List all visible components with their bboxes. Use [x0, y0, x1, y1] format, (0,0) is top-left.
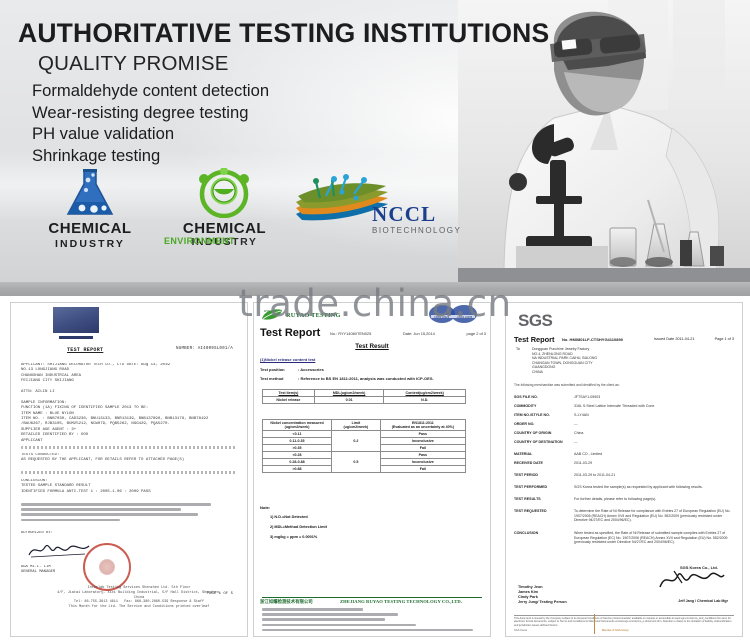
doc3-footer-divider	[594, 614, 595, 634]
doc2-result-heading: Test Result	[254, 343, 490, 350]
doc2-note-2: 2) MDL=Method Detection Limit	[270, 525, 327, 529]
table-header-row: Nickel concentration measured(ug/cm2/wee…	[263, 420, 466, 431]
doc2-note-3: 3) mg/kg = ppm = 0.0001%	[270, 535, 317, 539]
doc3-row-country-destination: COUNTRY OF DESTINATION---	[514, 440, 736, 444]
doc2-date: Date: Jun 15,2014	[403, 331, 435, 336]
doc3-page-number: Page 1 of 3	[715, 337, 734, 341]
doc3-row-commodity: COMMODITY316L S.Steel Lattice Intercafe …	[514, 404, 736, 408]
nccl-tagline: BIOTECHNOLOGY	[372, 226, 461, 235]
doc3-signature	[656, 569, 726, 598]
doc3-conclusion-text: When tested as specified, the Rate of Ni…	[574, 531, 736, 545]
atom-icon	[162, 168, 287, 218]
doc3-row-country-origin: COUNTRY OF ORIGINChina	[514, 431, 736, 435]
doc1-footer: Interlab Testing Services Shenzhen Ltd. …	[51, 586, 227, 610]
doc3-signer-title: Jeff Jang / Chemical Lab Mgr	[678, 599, 728, 603]
banner-title: AUTHORITATIVE TESTING INSTITUTIONS	[18, 18, 549, 49]
doc3-to-label: To	[516, 347, 520, 351]
doc3-row-order-no: ORDER NO.---	[514, 422, 736, 426]
doc2-footer-address	[262, 608, 482, 634]
doc1-fields: APPLICANT: SHIJIANG DECORATOR TECH CO., …	[21, 363, 237, 444]
logo1-text: CHEMICAL INDUSTRY	[30, 221, 150, 252]
nccl-name: NCCL	[372, 202, 461, 227]
logo-chemical-industry-atom: CHEMICAL ENVIRONMENT INDUSTRY	[162, 168, 287, 250]
doc2-kv-test-method: Test method: Reference to BS EN 1811:201…	[260, 376, 434, 381]
ruyao-leaf-icon: RYE	[260, 307, 284, 322]
doc1-logo-bar	[59, 336, 93, 339]
logo-chemical-industry-flask: CHEMICAL INDUSTRY	[30, 168, 150, 252]
doc2-footer-rule	[262, 597, 482, 598]
doc2-meta: No.: RYY14060TEN025 Date: Jun 15,2014 pa…	[330, 331, 486, 336]
doc1-title: TEST REPORT	[67, 347, 103, 353]
table-row: <0.28 0.5 Pass	[263, 452, 466, 459]
document-test-report-1[interactable]: TEST REPORT NUMBER: AI4009SL001/A APPLIC…	[10, 302, 248, 637]
doc2-note-label: Note:	[260, 505, 270, 510]
logo1-line1: CHEMICAL	[48, 220, 131, 237]
product-detail-image: AUTHORITATIVE TESTING INSTITUTIONS QUALI…	[0, 0, 750, 641]
doc2-kv-test-position: Test position: Accessories	[260, 367, 324, 372]
doc3-row-test-results: TEST RESULTSFor further details, please …	[514, 497, 736, 501]
sgs-logo: SGS	[518, 311, 552, 331]
promise-item: Shrinkage testing	[32, 145, 362, 167]
doc3-signer-names: Timothy JeonJames KimCindy ParkJerry Jun…	[518, 585, 567, 605]
doc2-title: Test Report	[260, 327, 320, 339]
logo2-overlay: ENVIRONMENT	[164, 234, 235, 249]
doc2-note-1: 1) N.D.=Not Detected	[270, 515, 308, 519]
doc1-signer: AGA MI.L. LIM GENERAL MANAGER	[21, 565, 237, 575]
quality-banner: AUTHORITATIVE TESTING INSTITUTIONS QUALI…	[0, 0, 750, 296]
doc1-divider-2	[21, 471, 237, 476]
promise-item: Wear-resisting degree testing	[32, 102, 362, 124]
doc1-report-no: NUMBER: AI4009SL001/A	[176, 347, 233, 351]
doc1-body-filler	[21, 503, 237, 524]
table-row: <0.11 0.2 Pass	[263, 431, 466, 438]
logo2-text: CHEMICAL ENVIRONMENT INDUSTRY	[162, 221, 287, 250]
doc2-footer-cn: 浙江如耀检测技术有限公司	[260, 599, 313, 605]
doc1-signature	[27, 539, 91, 561]
logo1-line2: INDUSTRY	[30, 237, 150, 252]
doc3-row-test-performed: TEST PERFORMEDSGS Korea tested the sampl…	[514, 485, 736, 489]
flask-icon	[30, 168, 150, 218]
doc1-tests: TESTS CONDUCTED: AS REQUESTED BY THE APP…	[21, 453, 237, 464]
doc3-issued-date: Issued Date 2011-04-21	[654, 337, 694, 341]
doc2-page: RYE RUYAO TESTING CNAS L0023 CNAS L0095	[254, 303, 490, 636]
doc3-report-no: No. HM0801LF-CTSHYG4110890	[562, 337, 623, 342]
certification-logos: CHEMICAL INDUSTRY	[22, 168, 442, 264]
doc2-section: (1)Nickel release content test	[260, 357, 315, 362]
doc3-disclaimer: This document is issued by the Company s…	[514, 617, 734, 627]
doc2-table-2: Nickel concentration measured(ug/cm2/wee…	[262, 419, 466, 473]
doc1-authorized-label: AUTHORIZED BY:	[21, 531, 237, 536]
promise-item: PH value validation	[32, 123, 362, 145]
doc2-report-no: No.: RYY14060TEN025	[330, 331, 371, 336]
doc3-title: Test Report	[514, 335, 555, 344]
doc2-page: page 2 of 3	[467, 331, 486, 336]
doc3-row-item-no: ITEM NO./STYLE NO.S-LY4AN	[514, 413, 736, 417]
doc1-conclusion: CONCLUSION: TESTED SAMPLE STANDARD RESUL…	[21, 479, 237, 495]
doc3-row-received-date: RECEIVED DATE2011-03-29	[514, 461, 736, 465]
doc1-divider-1	[21, 446, 237, 451]
promise-list: Formaldehyde content detection Wear-resi…	[32, 80, 362, 166]
svg-text:RYE: RYE	[264, 309, 270, 313]
document-test-report-2[interactable]: RYE RUYAO TESTING CNAS L0023 CNAS L0095	[253, 302, 491, 637]
doc3-page: SGS Test Report No. HM0801LF-CTSHYG41108…	[506, 303, 742, 636]
doc3-footer-rule	[514, 615, 734, 616]
doc3-row-sgs-file-no: SGS FILE NO.JFTSAY1-05903	[514, 395, 736, 399]
document-test-report-3[interactable]: SGS Test Report No. HM0801LF-CTSHYG41108…	[505, 302, 743, 637]
doc3-footer-mid: Member of SGS Group	[602, 629, 629, 632]
ruyao-lab-name: RUYAO TESTING	[286, 312, 341, 319]
doc3-row-test-period: TEST PERIOD2011-03-29 to 2011-04-21	[514, 473, 736, 477]
table-row: Nickel release 0.01 N.D.	[263, 397, 466, 404]
doc3-to-address: Dongguan Punchine Jewelry Factory NO.4, …	[532, 347, 597, 375]
doc3-row-material: MATERIALAAB CO., Limited	[514, 452, 736, 456]
promise-item: Formaldehyde content detection	[32, 80, 362, 102]
doc1-page: TEST REPORT NUMBER: AI4009SL001/A APPLIC…	[11, 303, 247, 636]
doc2-table-1: Test Item(s) MDL(ug/cm2/week) Content(ug…	[262, 389, 466, 404]
svg-text:CNAS L0023: CNAS L0023	[434, 315, 450, 319]
doc3-footer-left: SGS Korea	[514, 629, 527, 632]
doc2-footer-en: ZHEJIANG RUYAO TESTING TECHNOLOGY CO.,LT…	[340, 599, 462, 604]
nccl-text: NCCL BIOTECHNOLOGY	[372, 202, 461, 235]
svg-text:CNAS L0095: CNAS L0095	[457, 315, 473, 319]
doc3-test-requested-text: To determine the Rate of Ni Release for …	[574, 509, 736, 523]
doc3-intro: The following merchandise was submitted …	[514, 383, 736, 387]
banner-subtitle: QUALITY PROMISE	[38, 52, 229, 76]
table-header-row: Test Item(s) MDL(ug/cm2/week) Content(ug…	[263, 390, 466, 397]
certificate-strip: TEST REPORT NUMBER: AI4009SL001/A APPLIC…	[0, 296, 750, 641]
cnas-accreditation-marks: CNAS L0023 CNAS L0095	[426, 305, 486, 325]
doc1-logo	[53, 307, 99, 333]
